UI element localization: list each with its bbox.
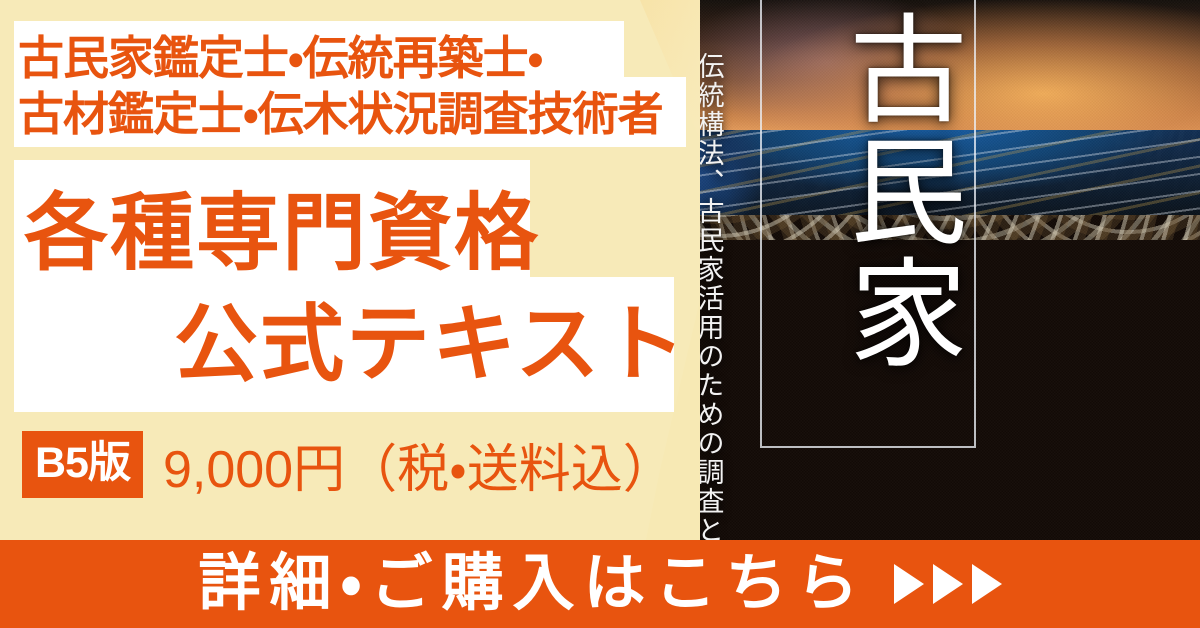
cta-bar[interactable]: 詳細・ご購入はこちら	[0, 540, 1200, 628]
cta-arrows	[894, 564, 1002, 604]
certification-list: 古民家鑑定士・伝統再築士・ 古材鑑定士・伝木状況調査技術者	[18, 30, 718, 142]
play-arrow-icon	[933, 564, 963, 604]
headline-line-2: 公式テキスト	[174, 289, 684, 400]
certification-line-2: 古材鑑定士・伝木状況調査技術者	[18, 86, 718, 142]
headline: 各種専門資格 公式テキスト	[24, 178, 684, 400]
cover-title: 古民家	[776, 8, 962, 374]
play-arrow-icon	[972, 564, 1002, 604]
price-amount: 9,000円（税・送料込）	[163, 427, 675, 502]
play-arrow-icon	[894, 564, 924, 604]
headline-line-1: 各種専門資格	[24, 178, 684, 289]
price-row: B5版 9,000円（税・送料込）	[22, 432, 675, 496]
format-badge: B5版	[22, 431, 143, 498]
cta-label: 詳細・ご購入はこちら	[198, 553, 867, 615]
certification-line-1: 古民家鑑定士・伝統再築士・	[18, 30, 718, 86]
promo-banner: 古民家 伝統構法、古民家活用のための調査と再生の 古民家鑑定士・伝統再築士・ 古…	[0, 0, 1200, 628]
